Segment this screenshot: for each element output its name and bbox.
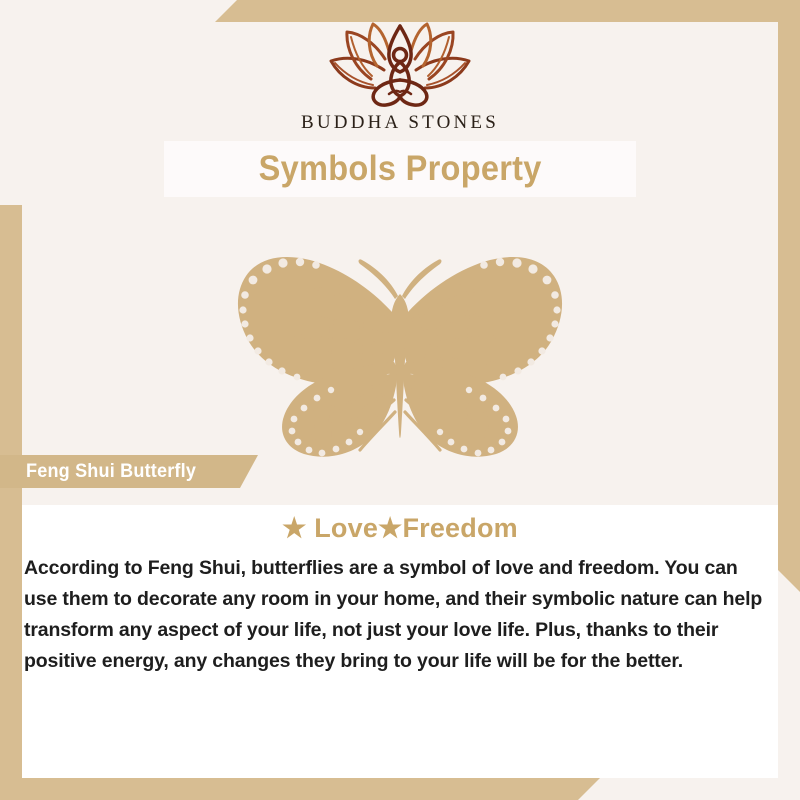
frame-band-left — [0, 205, 22, 800]
frame-band-top — [215, 0, 800, 22]
lotus-meditation-icon — [325, 22, 475, 110]
feng-shui-tag-banner: Feng Shui Butterfly — [0, 455, 258, 488]
butterfly-icon — [220, 236, 580, 464]
page-title-panel: Symbols Property — [164, 141, 636, 197]
brand-wordmark: BUDDHA STONES — [0, 112, 800, 134]
brand-logo-block: BUDDHA STONES — [0, 22, 800, 134]
content-paragraph: According to Feng Shui, butterflies are … — [22, 553, 778, 677]
frame-band-bottom — [0, 778, 600, 800]
artwork-area — [22, 215, 778, 485]
feng-shui-tag-label: Feng Shui Butterfly — [26, 461, 196, 483]
body-panel: ★ Love★Freedom According to Feng Shui, b… — [22, 505, 778, 778]
content-subheading: ★ Love★Freedom — [22, 513, 778, 544]
poster-root: BUDDHA STONES Symbols Property — [0, 0, 800, 800]
page-title: Symbols Property — [258, 149, 541, 189]
